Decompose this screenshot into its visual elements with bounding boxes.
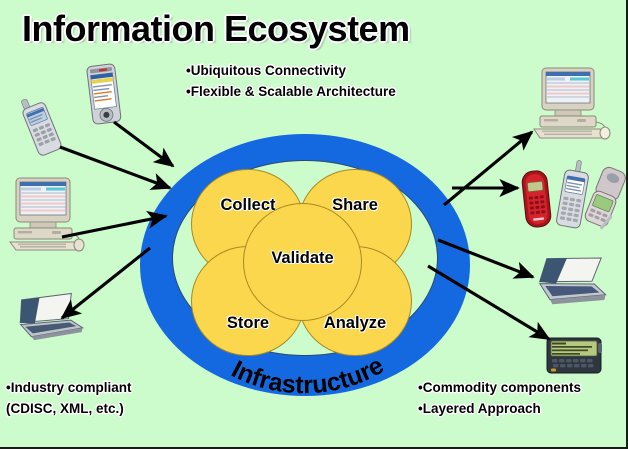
bullet-item: •Commodity components	[418, 377, 581, 398]
bullet-list-bottom-left: •Industry compliant (CDISC, XML, etc.)	[6, 377, 132, 419]
bullet-item: (CDISC, XML, etc.)	[6, 398, 132, 419]
slide-canvas: Information Ecosystem •Ubiquitous Connec…	[0, 0, 628, 449]
arrow-pda-to-ring	[114, 122, 173, 166]
laptop-device	[528, 252, 612, 314]
page-title: Information Ecosystem	[22, 8, 410, 50]
pda-device	[82, 62, 126, 128]
bullet-item: •Layered Approach	[418, 398, 581, 419]
desktop-computer-device	[6, 176, 86, 252]
capability-circle-validate[interactable]: Validate	[243, 203, 362, 321]
capability-label: Validate	[244, 249, 361, 268]
mobile-phone-device	[16, 88, 72, 164]
bullet-list-top: •Ubiquitous Connectivity •Flexible & Sca…	[186, 60, 396, 102]
flip-phone-device	[584, 166, 628, 230]
bullet-item: •Flexible & Scalable Architecture	[186, 81, 396, 102]
desktop-computer-device	[528, 66, 612, 140]
laptop-device	[14, 288, 90, 348]
handheld-pda-device	[543, 332, 607, 380]
mobile-phone-device	[519, 168, 553, 230]
bullet-item: •Ubiquitous Connectivity	[186, 60, 396, 81]
bullet-list-bottom-right: •Commodity components •Layered Approach	[418, 377, 581, 419]
bullet-item: •Industry compliant	[6, 377, 132, 398]
